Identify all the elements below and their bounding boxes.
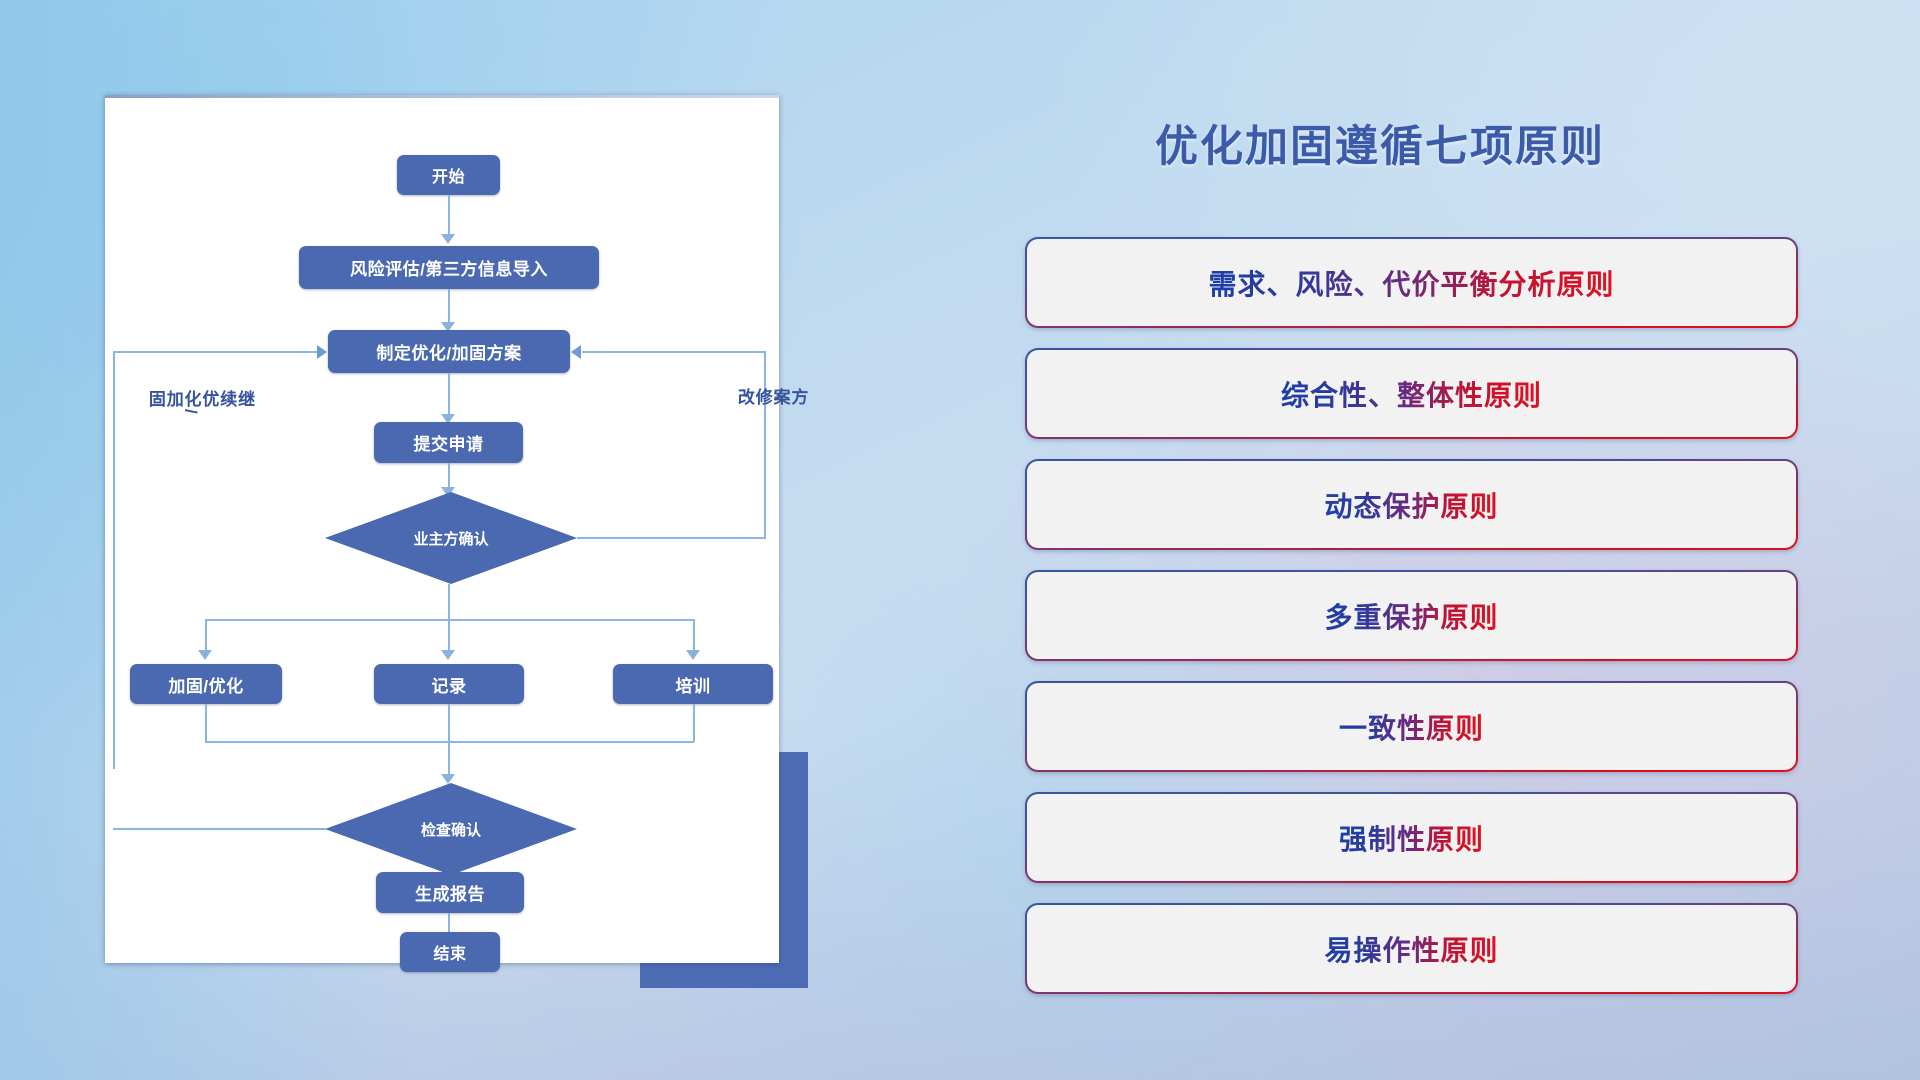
principle-card-inner: 综合性、整体性原则 — [1027, 350, 1796, 437]
edge-merge-to-check — [448, 741, 450, 778]
arrowhead-down — [441, 234, 455, 244]
flow-node-owner-confirm-label: 业主方确认 — [413, 528, 488, 549]
principle-card[interactable]: 强制性原则 — [1025, 792, 1798, 883]
page-title: 优化加固遵循七项原则 — [1155, 112, 1605, 174]
flow-node-check-confirm[interactable]: 检查确认 — [325, 783, 577, 875]
arrowhead-down — [686, 650, 700, 660]
flow-node-make-plan[interactable]: 制定优化/加固方案 — [328, 330, 570, 373]
principle-card-inner: 一致性原则 — [1027, 683, 1796, 770]
edge-right-to-plan — [582, 351, 766, 353]
edge-owner-right — [577, 537, 766, 539]
edge-left-loop-to-plan — [113, 351, 319, 353]
flow-node-check-confirm-label: 检查确认 — [421, 819, 481, 840]
edge-owner-down — [448, 584, 450, 620]
edge-merge-right — [693, 704, 695, 742]
principle-card-inner: 强制性原则 — [1027, 794, 1796, 881]
principle-card-inner: 多重保护原则 — [1027, 572, 1796, 659]
principle-card-label: 综合性、整体性原则 — [1281, 374, 1542, 414]
edge-merge-left — [205, 704, 207, 742]
edge-plan-to-submit — [448, 373, 450, 417]
principle-card[interactable]: 一致性原则 — [1025, 681, 1798, 772]
flow-node-owner-confirm[interactable]: 业主方确认 — [325, 492, 577, 584]
edge-label-plan-revise: 方案修改 — [735, 388, 806, 407]
principle-card-label: 动态保护原则 — [1324, 485, 1498, 525]
principle-card-label: 强制性原则 — [1339, 818, 1484, 858]
principle-card-inner: 动态保护原则 — [1027, 461, 1796, 548]
flow-node-start[interactable]: 开始 — [397, 155, 500, 195]
principle-card-inner: 易操作性原则 — [1027, 905, 1796, 992]
principle-card-label: 易操作性原则 — [1324, 929, 1498, 969]
principle-card-label: 一致性原则 — [1339, 707, 1484, 747]
flow-node-end-label: 结束 — [433, 940, 466, 964]
edge-check-back-left — [113, 828, 327, 830]
flow-node-reinforce-optimize[interactable]: 加固/优化 — [130, 664, 282, 704]
edge-merge-mid — [448, 704, 450, 742]
principle-card-list: 需求、风险、代价平衡分析原则 综合性、整体性原则 动态保护原则 多重保护原则 一… — [1025, 237, 1798, 1014]
principle-card-inner: 需求、风险、代价平衡分析原则 — [1027, 239, 1796, 326]
arrowhead-down — [441, 650, 455, 660]
arrowhead-right — [317, 345, 327, 359]
flow-node-record-label: 记录 — [432, 672, 467, 697]
edge-start-to-risk — [448, 195, 450, 238]
arrowhead-down — [198, 650, 212, 660]
flow-node-risk-assessment[interactable]: 风险评估/第三方信息导入 — [299, 246, 599, 289]
edge-risk-to-plan — [448, 289, 450, 325]
edge-label-continue-optimize: 继续优化/加固 — [146, 390, 253, 416]
edge-split-left — [205, 619, 207, 653]
flow-node-generate-report-label: 生成报告 — [415, 880, 485, 905]
edge-right-up — [764, 351, 766, 539]
principle-card[interactable]: 动态保护原则 — [1025, 459, 1798, 550]
edge-split-mid — [448, 619, 450, 653]
arrowhead-left — [571, 345, 581, 359]
principle-card[interactable]: 综合性、整体性原则 — [1025, 348, 1798, 439]
flow-node-submit-application[interactable]: 提交申请 — [374, 422, 523, 463]
flow-node-submit-application-label: 提交申请 — [414, 430, 484, 455]
flow-node-training-label: 培训 — [676, 672, 711, 697]
principle-card-label: 多重保护原则 — [1324, 596, 1498, 636]
principle-card[interactable]: 多重保护原则 — [1025, 570, 1798, 661]
flow-node-end[interactable]: 结束 — [400, 932, 500, 972]
principle-card[interactable]: 易操作性原则 — [1025, 903, 1798, 994]
flow-node-record[interactable]: 记录 — [374, 664, 524, 704]
flow-node-generate-report[interactable]: 生成报告 — [376, 872, 524, 913]
principle-card-label: 需求、风险、代价平衡分析原则 — [1208, 263, 1614, 303]
flow-node-risk-assessment-label: 风险评估/第三方信息导入 — [350, 255, 548, 280]
principle-card[interactable]: 需求、风险、代价平衡分析原则 — [1025, 237, 1798, 328]
flow-node-start-label: 开始 — [432, 163, 465, 187]
flow-node-reinforce-optimize-label: 加固/优化 — [168, 672, 243, 697]
edge-left-loop-vertical — [113, 351, 115, 769]
flow-node-training[interactable]: 培训 — [613, 664, 773, 704]
edge-split-right — [693, 619, 695, 653]
panel-top-edge — [105, 95, 779, 98]
flow-node-make-plan-label: 制定优化/加固方案 — [376, 339, 521, 364]
